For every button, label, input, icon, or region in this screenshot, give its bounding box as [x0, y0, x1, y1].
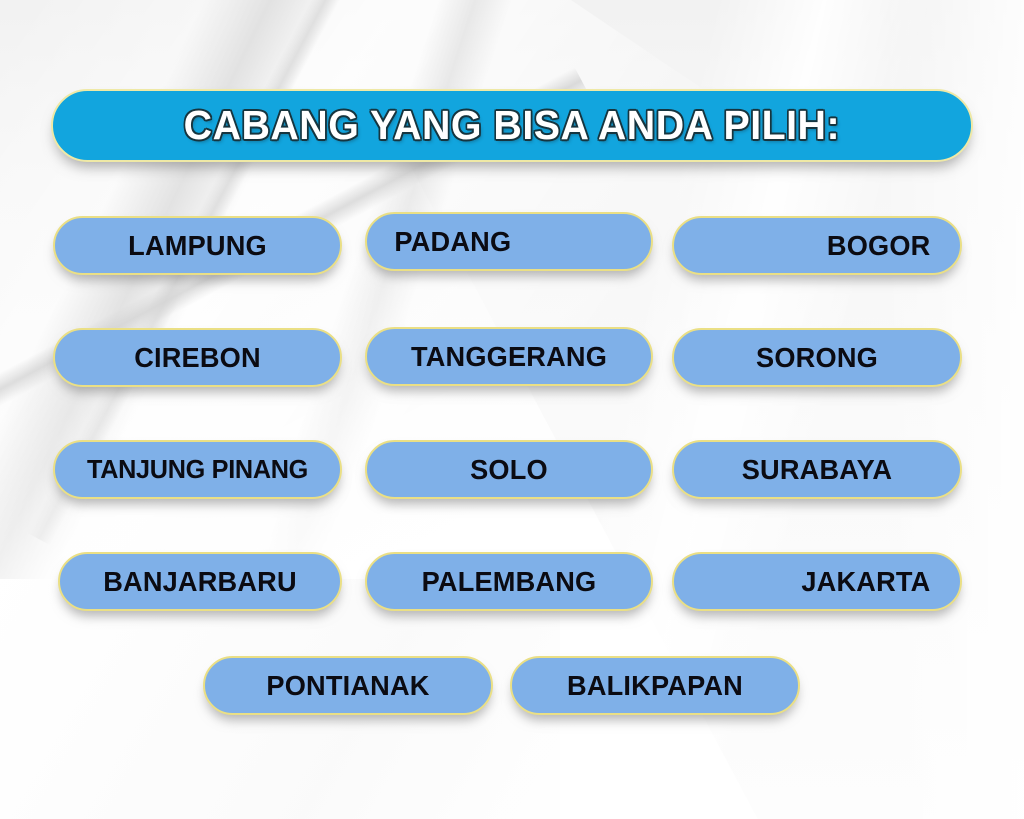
page-title: CABANG YANG BISA ANDA PILIH:: [184, 102, 840, 149]
branch-button-label: SOLO: [371, 454, 646, 486]
branch-button[interactable]: PONTIANAK: [203, 656, 493, 715]
branch-button-label: BANJARBARU: [64, 566, 336, 598]
branch-button-label: PADANG: [369, 226, 511, 258]
branch-button[interactable]: PALEMBANG: [365, 552, 653, 611]
branch-button-label: LAMPUNG: [59, 230, 335, 262]
branch-button-label: PALEMBANG: [371, 566, 646, 598]
branch-button-label: BOGOR: [678, 230, 955, 262]
branch-button-label: CIREBON: [59, 342, 335, 374]
branch-button[interactable]: SOLO: [365, 440, 653, 499]
branch-button-label: SURABAYA: [678, 454, 955, 486]
title-banner: CABANG YANG BISA ANDA PILIH:: [51, 89, 973, 162]
branch-button-label: JAKARTA: [678, 566, 955, 598]
branch-button[interactable]: LAMPUNG: [53, 216, 342, 275]
branch-button[interactable]: CIREBON: [53, 328, 342, 387]
branch-button-label: PONTIANAK: [209, 670, 486, 702]
branch-button[interactable]: JAKARTA: [672, 552, 962, 611]
branch-button[interactable]: SORONG: [672, 328, 962, 387]
branch-button[interactable]: PADANG: [365, 212, 653, 271]
branch-button-label: BALIKPAPAN: [516, 670, 793, 702]
branch-button-label: SORONG: [678, 342, 955, 374]
slide-content: CABANG YANG BISA ANDA PILIH: LAMPUNGPADA…: [0, 0, 1024, 819]
branch-button[interactable]: TANJUNG PINANG: [53, 440, 342, 499]
branch-button[interactable]: TANGGERANG: [365, 327, 653, 386]
branch-button[interactable]: BANJARBARU: [58, 552, 342, 611]
slide-canvas: CABANG YANG BISA ANDA PILIH: LAMPUNGPADA…: [0, 0, 1024, 819]
branch-button[interactable]: BALIKPAPAN: [510, 656, 800, 715]
branch-button[interactable]: BOGOR: [672, 216, 962, 275]
branch-button-label: TANJUNG PINANG: [59, 454, 335, 485]
branch-button-label: TANGGERANG: [371, 341, 646, 373]
branch-button[interactable]: SURABAYA: [672, 440, 962, 499]
